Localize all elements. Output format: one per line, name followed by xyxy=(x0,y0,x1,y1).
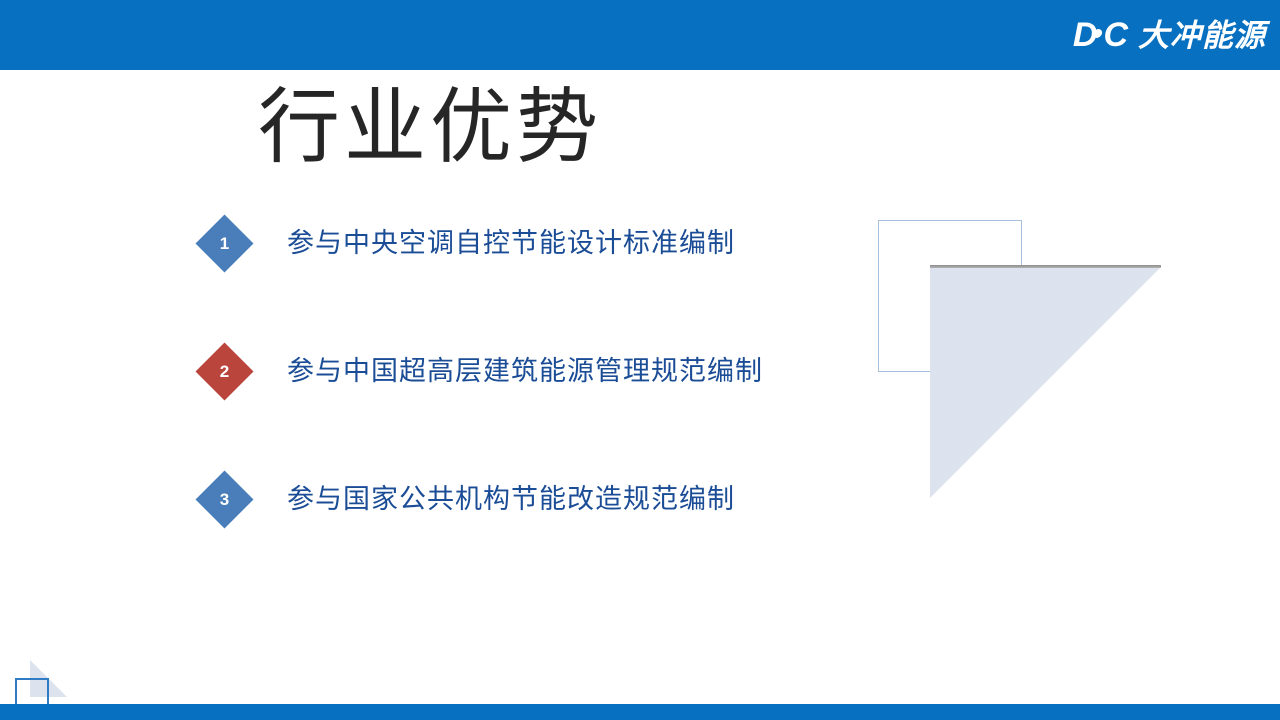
logo-letter-c: C xyxy=(1103,18,1127,52)
page-title: 行业优势 xyxy=(258,84,602,173)
list-item: 1 参与中央空调自控节能设计标准编制 xyxy=(196,214,816,272)
logo-monogram: DC xyxy=(1073,18,1127,52)
list-item: 2 参与中国超高层建筑能源管理规范编制 xyxy=(196,342,816,400)
bottom-brand-bar xyxy=(0,704,1280,720)
company-logo: DC 大冲能源 xyxy=(1073,14,1266,56)
bullet-number-3: 3 xyxy=(204,479,245,520)
logo-company-name: 大冲能源 xyxy=(1138,20,1266,51)
bullet-badge-1: 1 xyxy=(196,214,254,272)
decorative-triangle xyxy=(930,267,1161,498)
logo-dot-icon xyxy=(1092,29,1103,38)
slide: DC 大冲能源 行业优势 1 参与中央空调自控节能设计标准编制 2 参与中国超高… xyxy=(0,0,1280,720)
list-item: 3 参与国家公共机构节能改造规范编制 xyxy=(196,470,816,528)
bullet-text-1: 参与中央空调自控节能设计标准编制 xyxy=(287,227,735,259)
bullet-number-2: 2 xyxy=(204,351,245,392)
bullet-text-2: 参与中国超高层建筑能源管理规范编制 xyxy=(287,355,763,387)
advantages-list: 1 参与中央空调自控节能设计标准编制 2 参与中国超高层建筑能源管理规范编制 3… xyxy=(196,214,816,528)
top-brand-bar: DC 大冲能源 xyxy=(0,0,1280,70)
bullet-badge-2: 2 xyxy=(196,342,254,400)
bullet-text-3: 参与国家公共机构节能改造规范编制 xyxy=(287,483,735,515)
decorative-triangle-edge xyxy=(930,265,1161,268)
decorative-motif-large xyxy=(878,220,1168,505)
bullet-number-1: 1 xyxy=(204,223,245,264)
bullet-badge-3: 3 xyxy=(196,470,254,528)
